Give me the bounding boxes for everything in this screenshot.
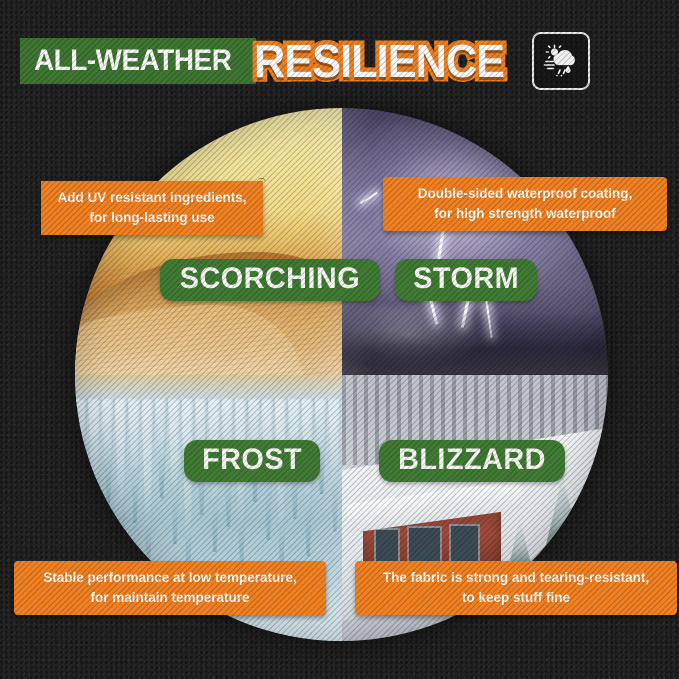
- header-banner: ALL-WEATHER RESILIENCE: [20, 30, 665, 92]
- label-badge-blizzard: BLIZZARD: [379, 440, 565, 482]
- caption-line-1: Double-sided waterproof coating,: [395, 184, 655, 204]
- caption-line-1: Stable performance at low temperature,: [26, 568, 314, 588]
- label-badge-scorching: SCORCHING: [160, 259, 380, 301]
- label-badge-storm: STORM: [395, 259, 537, 301]
- title-green-block: ALL-WEATHER: [20, 38, 256, 84]
- caption-line-1: The fabric is strong and tearing-resista…: [367, 568, 665, 588]
- caption-line-2: for long-lasting use: [53, 208, 251, 228]
- caption-frost: Stable performance at low temperature, f…: [14, 561, 326, 615]
- weather-icon-badge: [532, 32, 590, 90]
- lightning-bolt: [360, 192, 378, 204]
- quadrant-scorching: [75, 108, 342, 375]
- caption-scorching: Add UV resistant ingredients, for long-l…: [41, 181, 263, 235]
- storm-horizon: [342, 311, 609, 375]
- title-all-weather: ALL-WEATHER: [34, 44, 231, 78]
- badge-text: SCORCHING: [180, 264, 360, 294]
- badge-text: STORM: [413, 264, 519, 294]
- caption-line-1: Add UV resistant ingredients,: [53, 188, 251, 208]
- poster-root: ALL-WEATHER RESILIENCE: [0, 0, 679, 679]
- sun-cloud-wind-rain-icon: [541, 41, 581, 81]
- badge-text: BLIZZARD: [398, 445, 546, 475]
- caption-line-2: for high strength waterproof: [395, 204, 655, 224]
- badge-text: FROST: [202, 445, 302, 475]
- quadrant-storm: [342, 108, 609, 375]
- caption-blizzard: The fabric is strong and tearing-resista…: [355, 561, 677, 615]
- title-orange-block: RESILIENCE: [254, 30, 520, 92]
- caption-storm: Double-sided waterproof coating, for hig…: [383, 177, 667, 231]
- label-badge-frost: FROST: [184, 440, 320, 482]
- caption-line-2: for maintain temperature: [26, 588, 314, 608]
- caption-line-2: to keep stuff fine: [367, 588, 665, 608]
- title-resilience: RESILIENCE: [254, 34, 504, 88]
